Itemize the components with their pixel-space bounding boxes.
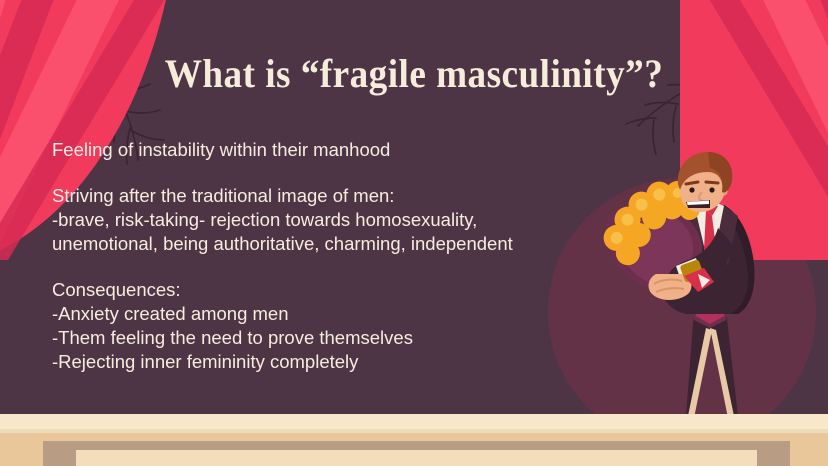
text-line: -Rejecting inner femininity completely	[52, 350, 612, 374]
text-line: Feeling of instability within their manh…	[52, 138, 612, 162]
text-line: Consequences:	[52, 278, 612, 302]
paragraph-2: Striving after the traditional image of …	[52, 184, 612, 256]
paragraph-3: Consequences: -Anxiety created among men…	[52, 278, 612, 374]
man-with-bouquet-illustration	[598, 150, 828, 440]
text-line: -Them feeling the need to prove themselv…	[52, 326, 612, 350]
slide-title: What is “fragile masculinity”?	[29, 50, 799, 97]
stage-floor-top	[0, 414, 828, 433]
text-line: Striving after the traditional image of …	[52, 184, 612, 208]
text-line: -Anxiety created among men	[52, 302, 612, 326]
text-line: unemotional, being authoritative, charmi…	[52, 232, 612, 256]
stage-floor-panel-inner	[76, 450, 757, 466]
text-line: -brave, risk-taking- rejection towards h…	[52, 208, 612, 232]
slide-body: Feeling of instability within their manh…	[52, 138, 612, 374]
presentation-slide: What is “fragile masculinity”? Feeling o…	[0, 0, 828, 466]
paragraph-1: Feeling of instability within their manh…	[52, 138, 612, 162]
